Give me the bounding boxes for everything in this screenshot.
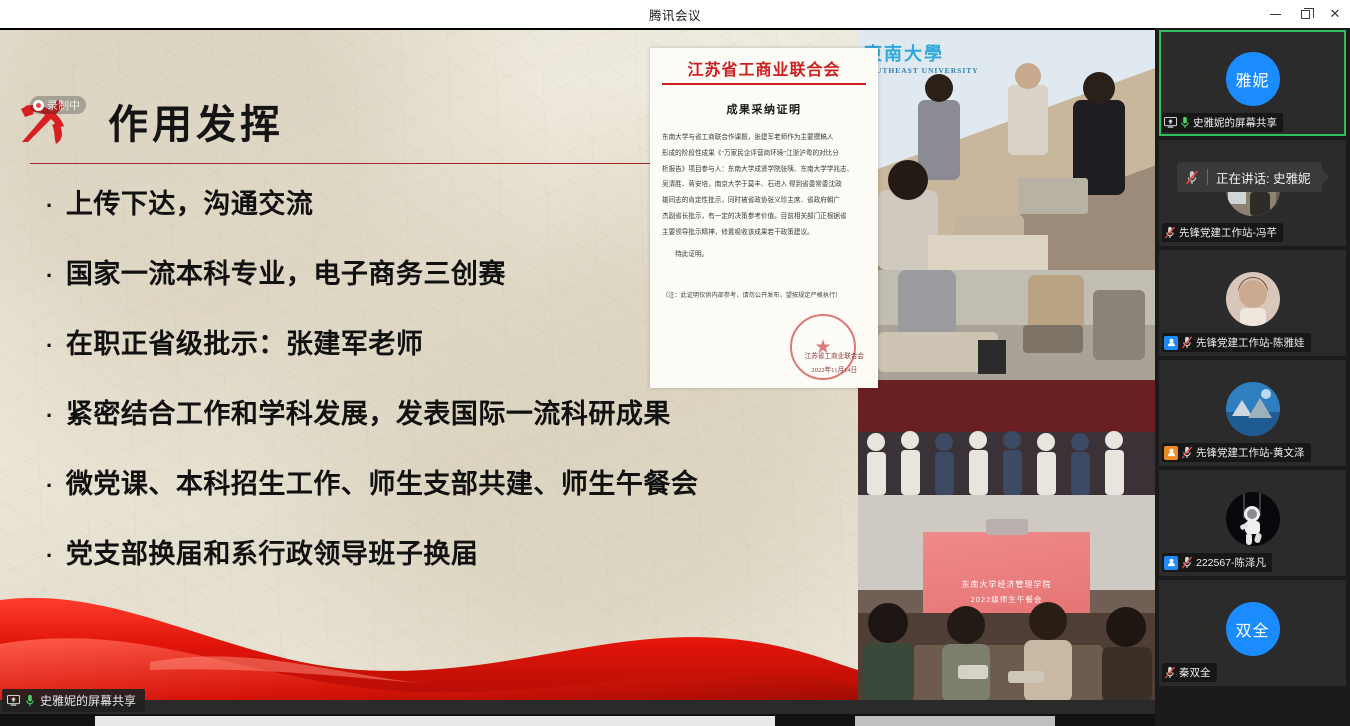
certificate-acknowledgement: 特此证明。 [662,248,866,263]
photo-figures [858,270,1155,380]
microphone-icon [25,694,35,707]
photo-figures [858,380,1155,495]
slide-title: 作用发挥 [108,92,284,150]
microphone-muted-icon [1181,336,1193,349]
speaking-tooltip: 正在讲话: 史雅妮 [1177,162,1322,192]
avatar-photo [1226,382,1280,436]
participant-name: 史雅妮的屏幕共享 [1193,115,1277,130]
window-controls: ✕ [1260,0,1350,28]
bullet-marker: · [46,475,54,497]
certificate-title: 成果采纳证明 [662,101,866,117]
avatar-photo [1226,492,1280,546]
window-title: 腾讯会议 [649,5,701,24]
avatar: 双全 [1226,602,1280,656]
speaking-label: 正在讲话: 史雅妮 [1216,168,1310,187]
bullet-text: 国家一流本科专业，电子商务三创赛 [66,252,506,291]
participant-label: 史雅妮的屏幕共享 [1162,113,1283,132]
bullet-marker: · [46,265,54,287]
photo-figures [858,495,1155,702]
record-dot-icon [33,100,44,111]
cohost-badge-icon [1164,446,1178,460]
photo-meeting-room-discussion [858,270,1155,380]
certificate-body-line: 东南大学与省工商联合作课题，张建军老师作为主要撰稿人 [662,131,866,146]
microphone-muted-icon [1164,226,1176,239]
photo-southeast-university-table: 東南大學 SOUTHEAST UNIVERSITY [858,30,1155,270]
close-button[interactable]: ✕ [1320,0,1350,28]
avatar [1226,382,1280,436]
participant-tile-screen-share[interactable]: 雅妮 史雅妮的屏幕共享 [1159,30,1346,136]
bullet-text: 微党课、本科招生工作、师生支部共建、师生午餐会 [66,462,699,501]
maximize-icon [1301,10,1310,19]
bullet-marker: · [46,405,54,427]
participant-name: 先锋党建工作站-冯芊 [1179,225,1277,240]
photo-group-classroom [858,380,1155,495]
bullet-text: 紧密结合工作和学科发展，发表国际一流科研成果 [66,392,671,431]
host-badge-icon [1164,336,1178,350]
certificate-body-line: 杰副省长批示，有一定的决策参考价值。目前相关部门正根据省 [662,210,866,225]
screen-share-icon [1164,117,1177,128]
recording-badge: 录制中 [30,96,86,114]
participant-name: 先锋党建工作站-陈雅娃 [1196,335,1305,350]
participant-tile-feng-qian[interactable]: 先锋党建工作站-冯芊 [1159,140,1346,246]
window-title-bar: 腾讯会议 ✕ [0,0,1350,28]
participant-tile-huang-wenze[interactable]: 先锋党建工作站-黄文泽 [1159,360,1346,466]
bullet-marker: · [46,195,54,217]
bullet-marker: · [46,545,54,567]
slide-bullet-item: · 紧密结合工作和学科发展，发表国际一流科研成果 [46,392,846,462]
close-icon: ✕ [1330,8,1341,21]
os-taskbar[interactable] [0,714,1350,726]
participant-label: 先锋党建工作站-黄文泽 [1162,443,1311,462]
shared-screen-area[interactable]: 录制中 作用发挥 · 上传下达，沟通交流 · 国家一流本科专业，电子商务三创赛 … [0,30,1155,702]
red-ribbon-decoration [0,566,858,702]
participant-name: 先锋党建工作站-黄文泽 [1196,445,1305,460]
certificate-body-line: 雄同志的肯定性批示，同时被省政协张义珍主席、省政府朝广 [662,194,866,209]
certificate-signature-org: 江苏省工商业联合会 [805,350,864,364]
avatar [1226,492,1280,546]
participant-tile-chen-yawa[interactable]: 先锋党建工作站-陈雅娃 [1159,250,1346,356]
share-status-label: 史雅妮的屏幕共享 [40,692,136,709]
host-badge-icon [1164,556,1178,570]
maximize-button[interactable] [1290,0,1320,28]
participant-tile-qin-shuangquan[interactable]: 双全 秦双全 [1159,580,1346,686]
participant-name: 秦双全 [1179,665,1211,680]
certificate-body-line: 主要领导批示精神，修置吸收该成果若干政策建议。 [662,226,866,241]
certificate-header-rule [662,83,866,85]
screen-share-icon [7,695,20,706]
photo-figures [858,30,1155,270]
participant-rail: 雅妮 史雅妮的屏幕共享 [1155,28,1350,726]
participant-label: 秦双全 [1162,663,1217,682]
taskbar-window-strip[interactable] [95,716,775,726]
microphone-icon [1180,116,1190,129]
photo-collage-column: 江苏省工商业联合会 成果采纳证明 东南大学与省工商联合作课题，张建军老师作为主要… [858,30,1155,702]
meeting-stage: 录制中 作用发挥 · 上传下达，沟通交流 · 国家一流本科专业，电子商务三创赛 … [0,28,1155,726]
participant-label: 先锋党建工作站-陈雅娃 [1162,333,1311,352]
certificate-signature-date: 2022年11月14日 [805,364,864,378]
microphone-muted-icon [1185,170,1199,185]
microphone-muted-icon [1164,666,1176,679]
photo-luncheon: 东南大学经济管理学院 2022级师生午餐会 [858,495,1155,702]
participant-label: 222567-陈泽凡 [1162,553,1272,572]
avatar: 雅妮 [1226,52,1280,106]
certificate-document: 江苏省工商业联合会 成果采纳证明 东南大学与省工商联合作课题，张建军老师作为主要… [650,48,878,388]
bullet-marker: · [46,335,54,357]
minimize-button[interactable] [1260,0,1290,28]
certificate-body-line: 吴清胜、蒋安培，南京大学于莫丰、石进入 得到省委常委沈政 [662,178,866,193]
certificate-signature: 江苏省工商业联合会 2022年11月14日 [805,350,864,378]
share-status-bar [0,700,1155,714]
participant-label: 先锋党建工作站-冯芊 [1162,223,1283,242]
bullet-text: 在职正省级批示：张建军老师 [66,322,424,361]
bullet-text: 上传下达，沟通交流 [66,182,314,221]
slide-bullet-item: · 微党课、本科招生工作、师生支部共建、师生午餐会 [46,462,846,532]
certificate-body-line: 形成的阶段性成果《"万家民企评营商环境"江浙沪粤的对比分 [662,147,866,162]
recording-label: 录制中 [47,97,80,113]
certificate-body: 东南大学与省工商联合作课题，张建军老师作为主要撰稿人 形成的阶段性成果《"万家民… [662,131,866,303]
certificate-header: 江苏省工商业联合会 [662,56,866,83]
tooltip-divider [1207,169,1208,185]
certificate-note: （注：此证明仅供内部参考，请勿公开发布，望按规定严格执行） [662,289,866,303]
avatar-photo [1226,272,1280,326]
microphone-muted-icon [1181,556,1193,569]
share-status-tag: 史雅妮的屏幕共享 [2,689,145,712]
participant-tile-chen-zefan[interactable]: 222567-陈泽凡 [1159,470,1346,576]
avatar [1226,272,1280,326]
minimize-icon [1270,14,1281,15]
microphone-muted-icon [1181,446,1193,459]
taskbar-window-strip-secondary[interactable] [855,716,1055,726]
participant-name: 222567-陈泽凡 [1196,555,1266,570]
certificate-body-line: 析报告》项目参与人：东南大学成贤学院张咦、东南大学学兆志、 [662,163,866,178]
